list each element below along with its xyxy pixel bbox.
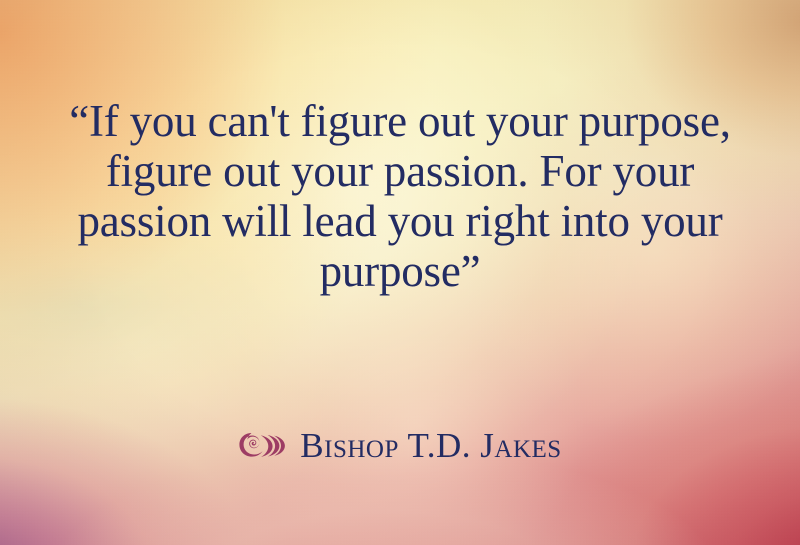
spiral-swoosh-ornament-icon — [238, 430, 286, 462]
quote-card: “If you can't figure out your purpose, f… — [0, 0, 800, 545]
attribution: Bishop T.D. Jakes — [238, 427, 561, 465]
quote-content: “If you can't figure out your purpose, f… — [0, 0, 800, 545]
author-name: Bishop T.D. Jakes — [300, 427, 561, 465]
quote-text: “If you can't figure out your purpose, f… — [55, 96, 745, 296]
